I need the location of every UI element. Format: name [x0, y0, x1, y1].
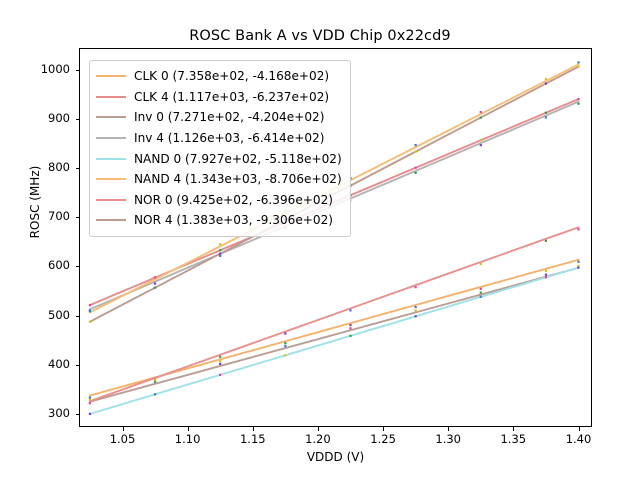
- legend-item[interactable]: Inv 4 (1.126e+03, -6.414e+02): [96, 128, 342, 149]
- legend-item-label: NOR 0 (9.425e+02, -6.396e+02): [134, 193, 333, 207]
- legend-color-swatch: [96, 199, 126, 201]
- data-point-marker: [219, 374, 221, 376]
- legend-item[interactable]: NAND 4 (1.343e+03, -8.706e+02): [96, 169, 342, 190]
- data-point-marker: [89, 304, 91, 306]
- legend-color-swatch: [96, 178, 126, 180]
- legend-item-label: NAND 0 (7.927e+02, -5.118e+02): [134, 152, 342, 166]
- y-tick-label: 1000: [26, 62, 70, 76]
- data-point-marker: [545, 116, 547, 118]
- y-axis-label: ROSC (MHz): [28, 82, 42, 322]
- legend-item-label: CLK 0 (7.358e+02, -4.168e+02): [134, 69, 329, 83]
- y-tick-mark: [76, 119, 80, 120]
- data-point-marker: [154, 393, 156, 395]
- data-point-marker: [219, 360, 221, 362]
- legend-color-swatch: [96, 75, 126, 77]
- data-point-marker: [480, 291, 482, 293]
- data-point-marker: [577, 103, 579, 105]
- x-tick-label: 1.15: [230, 432, 276, 446]
- data-point-marker: [545, 82, 547, 84]
- y-tick-label: 400: [26, 357, 70, 371]
- x-tick-mark: [579, 427, 580, 431]
- legend-color-swatch: [96, 137, 126, 139]
- data-point-marker: [349, 327, 351, 329]
- data-point-marker: [89, 321, 91, 323]
- data-point-marker: [284, 354, 286, 356]
- data-point-marker: [480, 116, 482, 118]
- series-markers: [89, 265, 580, 401]
- x-tick-mark: [513, 427, 514, 431]
- data-point-marker: [89, 309, 91, 311]
- chart-legend: CLK 0 (7.358e+02, -4.168e+02)CLK 4 (1.11…: [89, 60, 351, 237]
- series-markers: [89, 261, 580, 399]
- data-point-marker: [154, 276, 156, 278]
- legend-item-label: NAND 4 (1.343e+03, -8.706e+02): [134, 172, 342, 186]
- y-tick-mark: [76, 316, 80, 317]
- x-tick-label: 1.20: [295, 432, 341, 446]
- chart-title: ROSC Bank A vs VDD Chip 0x22cd9: [0, 28, 640, 44]
- data-point-marker: [545, 274, 547, 276]
- data-point-marker: [154, 282, 156, 284]
- data-point-marker: [480, 111, 482, 113]
- data-point-marker: [545, 240, 547, 242]
- x-tick-label: 1.25: [360, 432, 406, 446]
- legend-color-swatch: [96, 96, 126, 98]
- y-tick-mark: [76, 217, 80, 218]
- data-point-marker: [284, 345, 286, 347]
- data-point-marker: [480, 288, 482, 290]
- data-point-marker: [577, 66, 579, 68]
- legend-item[interactable]: NOR 0 (9.425e+02, -6.396e+02): [96, 190, 342, 211]
- y-tick-mark: [76, 70, 80, 71]
- data-point-marker: [415, 309, 417, 311]
- data-point-marker: [219, 356, 221, 358]
- chart-figure: ROSC Bank A vs VDD Chip 0x22cd9 1.051.10…: [0, 0, 640, 480]
- data-point-marker: [415, 151, 417, 153]
- y-tick-mark: [76, 168, 80, 169]
- x-tick-mark: [448, 427, 449, 431]
- legend-item[interactable]: Inv 0 (7.271e+02, -4.204e+02): [96, 107, 342, 128]
- legend-color-swatch: [96, 158, 126, 160]
- legend-item-label: NOR 4 (1.383e+03, -9.306e+02): [134, 213, 333, 227]
- data-point-marker: [415, 286, 417, 288]
- data-point-marker: [219, 363, 221, 365]
- data-point-marker: [219, 255, 221, 257]
- data-point-marker: [89, 402, 91, 404]
- data-point-marker: [89, 396, 91, 398]
- series-line: [90, 268, 579, 402]
- data-point-marker: [577, 228, 579, 230]
- data-point-marker: [219, 253, 221, 255]
- data-point-marker: [349, 309, 351, 311]
- x-tick-mark: [318, 427, 319, 431]
- y-tick-mark: [76, 266, 80, 267]
- legend-item[interactable]: CLK 0 (7.358e+02, -4.168e+02): [96, 66, 342, 87]
- x-tick-label: 1.10: [165, 432, 211, 446]
- series-line: [90, 268, 579, 414]
- y-tick-mark: [76, 414, 80, 415]
- data-point-marker: [415, 315, 417, 317]
- data-point-marker: [415, 167, 417, 169]
- data-point-marker: [545, 112, 547, 114]
- legend-item[interactable]: NAND 0 (7.927e+02, -5.118e+02): [96, 148, 342, 169]
- y-tick-mark: [76, 365, 80, 366]
- legend-item[interactable]: CLK 4 (1.117e+03, -6.237e+02): [96, 87, 342, 108]
- data-point-marker: [349, 324, 351, 326]
- data-point-marker: [577, 98, 579, 100]
- data-point-marker: [480, 263, 482, 265]
- x-tick-label: 1.05: [100, 432, 146, 446]
- data-point-marker: [219, 249, 221, 251]
- x-tick-mark: [383, 427, 384, 431]
- x-tick-label: 1.35: [490, 432, 536, 446]
- data-point-marker: [480, 139, 482, 141]
- x-tick-label: 1.30: [425, 432, 471, 446]
- data-point-marker: [577, 267, 579, 269]
- data-point-marker: [577, 61, 579, 63]
- data-point-marker: [545, 276, 547, 278]
- series-markers: [89, 228, 580, 404]
- data-point-marker: [154, 287, 156, 289]
- data-point-marker: [219, 243, 221, 245]
- data-point-marker: [480, 144, 482, 146]
- x-tick-mark: [253, 427, 254, 431]
- data-point-marker: [89, 399, 91, 401]
- data-point-marker: [545, 270, 547, 272]
- data-point-marker: [415, 172, 417, 174]
- x-tick-label: 1.40: [556, 432, 602, 446]
- data-point-marker: [415, 306, 417, 308]
- legend-item-label: Inv 4 (1.126e+03, -6.414e+02): [134, 131, 324, 145]
- legend-color-swatch: [96, 116, 126, 118]
- data-point-marker: [284, 332, 286, 334]
- legend-color-swatch: [96, 219, 126, 221]
- legend-item-label: Inv 0 (7.271e+02, -4.204e+02): [134, 110, 324, 124]
- series-line: [90, 227, 579, 401]
- legend-item[interactable]: NOR 4 (1.383e+03, -9.306e+02): [96, 210, 342, 231]
- legend-item-label: CLK 4 (1.117e+03, -6.237e+02): [134, 90, 329, 104]
- x-tick-mark: [123, 427, 124, 431]
- data-point-marker: [480, 296, 482, 298]
- data-point-marker: [89, 413, 91, 415]
- data-point-marker: [545, 78, 547, 80]
- x-tick-mark: [188, 427, 189, 431]
- data-point-marker: [154, 379, 156, 381]
- x-axis-label: VDDD (V): [79, 450, 592, 464]
- data-point-marker: [415, 144, 417, 146]
- y-tick-label: 300: [26, 406, 70, 420]
- data-point-marker: [284, 342, 286, 344]
- data-point-marker: [349, 335, 351, 337]
- data-point-marker: [577, 261, 579, 263]
